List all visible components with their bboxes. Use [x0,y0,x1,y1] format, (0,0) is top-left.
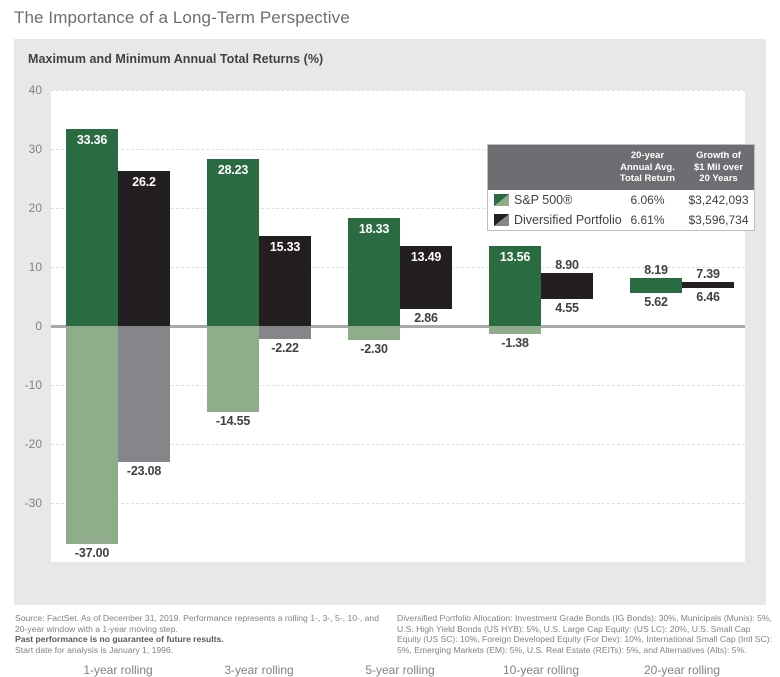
bar-sp500-min-group-3: -2.30 [348,326,400,340]
legend-header-growth-line1: Growth of [685,150,752,162]
legend-row-diversified: Diversified Portfolio 6.61% $3,596,734 [488,210,754,230]
bar-label-diversified-min-group-5: 6.46 [696,290,720,304]
bar-sp500-max-group-2: 28.23 [207,159,259,326]
legend-name-cell-diversified: Diversified Portfolio [488,213,612,227]
x-axis-tick-label: 5-year rolling [365,663,434,677]
footnote-right: Diversified Portfolio Allocation: Invest… [397,613,772,655]
bar-label-diversified-max-group-2: 15.33 [270,240,300,254]
y-axis-tick-label: 10 [29,260,42,274]
gridline [51,90,745,91]
bar-sp500-max-group-3: 18.33 [348,218,400,326]
bar-label-diversified-min-group-3: 2.86 [414,311,438,325]
bar-label-sp500-max-group-2: 28.23 [218,163,248,177]
y-axis-tick-label: 20 [29,201,42,215]
bar-diversified-max-group-3: 13.492.86 [400,246,452,309]
bar-diversified-max-group-4: 8.904.55 [541,273,593,299]
page-title: The Importance of a Long-Term Perspectiv… [14,8,350,28]
legend-label-sp500: S&P 500® [514,193,572,207]
legend-label-diversified: Diversified Portfolio [514,213,622,227]
bar-sp500-max-group-5: 8.195.62 [630,278,682,293]
bar-label-diversified-max-group-1: 26.2 [132,175,156,189]
footnote-left-line1: Source: FactSet. As of December 31, 2019… [15,613,379,634]
bar-label-sp500-max-group-3: 18.33 [359,222,389,236]
gridline [51,503,745,504]
bar-label-diversified-min-group-1: -23.08 [127,464,161,478]
bar-label-sp500-max-group-1: 33.36 [77,133,107,147]
footnote-left-line3: Start date for analysis is January 1, 19… [15,645,390,656]
legend-header-growth-line3: 20 Years [685,173,752,185]
bar-label-diversified-min-group-4: 4.55 [555,301,579,315]
x-axis-tick-label: 1-year rolling [83,663,152,677]
legend-name-cell-sp500: S&P 500® [488,193,612,207]
legend-table: 20-year Annual Avg. Total Return Growth … [487,144,755,231]
x-axis-tick-label: 20-year rolling [644,663,720,677]
legend-row-sp500: S&P 500® 6.06% $3,242,093 [488,190,754,210]
black-split-swatch-icon [494,214,509,226]
green-split-swatch-icon [494,194,509,206]
x-axis-tick-label: 3-year rolling [224,663,293,677]
bar-label-sp500-min-group-3: -2.30 [360,342,388,356]
legend-value-diversified-annual-return: 6.61% [612,213,683,227]
bar-label-sp500-min-group-4: -1.38 [501,336,529,350]
bar-sp500-min-group-2: -14.55 [207,326,259,412]
legend-value-sp500-annual-return: 6.06% [612,193,683,207]
legend-header-annual-return-line1: 20-year [614,150,681,162]
legend-header-blank [488,145,612,190]
bar-label-sp500-max-group-4: 13.56 [500,250,530,264]
y-axis-tick-label: -20 [25,437,42,451]
footnote-right-text: Diversified Portfolio Allocation: Invest… [397,613,772,655]
bar-label-diversified-max-group-3: 13.49 [411,250,441,264]
chart-subtitle: Maximum and Minimum Annual Total Returns… [28,52,323,66]
y-axis-tick-label: -30 [25,496,42,510]
bar-diversified-max-group-2: 15.33 [259,236,311,326]
bar-label-sp500-min-group-5: 5.62 [644,295,668,309]
legend-header-growth: Growth of $1 Mil over 20 Years [683,145,754,190]
legend-header-annual-return-line3: Total Return [614,173,681,185]
y-axis-tick-label: -10 [25,378,42,392]
bar-label-diversified-max-group-5: 7.39 [696,267,720,281]
legend-header-annual-return-line2: Annual Avg. [614,162,681,174]
legend-header-growth-line2: $1 Mil over [685,162,752,174]
footnote-left: Source: FactSet. As of December 31, 2019… [15,613,390,655]
bar-diversified-max-group-1: 26.2 [118,171,170,326]
bar-sp500-max-group-4: 13.56 [489,246,541,326]
y-axis-tick-label: 40 [29,83,42,97]
legend-value-diversified-growth: $3,596,734 [683,213,754,227]
x-axis-tick-label: 10-year rolling [503,663,579,677]
legend-value-sp500-growth: $3,242,093 [683,193,754,207]
legend-header-annual-return: 20-year Annual Avg. Total Return [612,145,683,190]
bar-sp500-max-group-1: 33.36 [66,129,118,326]
y-axis-tick-label: 30 [29,142,42,156]
bar-sp500-min-group-4: -1.38 [489,326,541,334]
bar-label-diversified-min-group-2: -2.22 [271,341,299,355]
footnote-left-disclaimer: Past performance is no guarantee of futu… [15,634,390,645]
legend-header-row: 20-year Annual Avg. Total Return Growth … [488,145,754,190]
bar-sp500-min-group-1: -37.00 [66,326,118,544]
bar-label-sp500-min-group-1: -37.00 [75,546,109,560]
y-axis-tick-label: 0 [35,319,42,333]
chart-panel: Maximum and Minimum Annual Total Returns… [14,39,766,605]
bar-label-sp500-max-group-5: 8.19 [644,263,668,277]
bar-label-diversified-max-group-4: 8.90 [555,258,579,272]
bar-label-sp500-min-group-2: -14.55 [216,414,250,428]
bar-diversified-max-group-5: 7.396.46 [682,282,734,287]
bar-diversified-min-group-1: -23.08 [118,326,170,462]
bar-diversified-min-group-2: -2.22 [259,326,311,339]
